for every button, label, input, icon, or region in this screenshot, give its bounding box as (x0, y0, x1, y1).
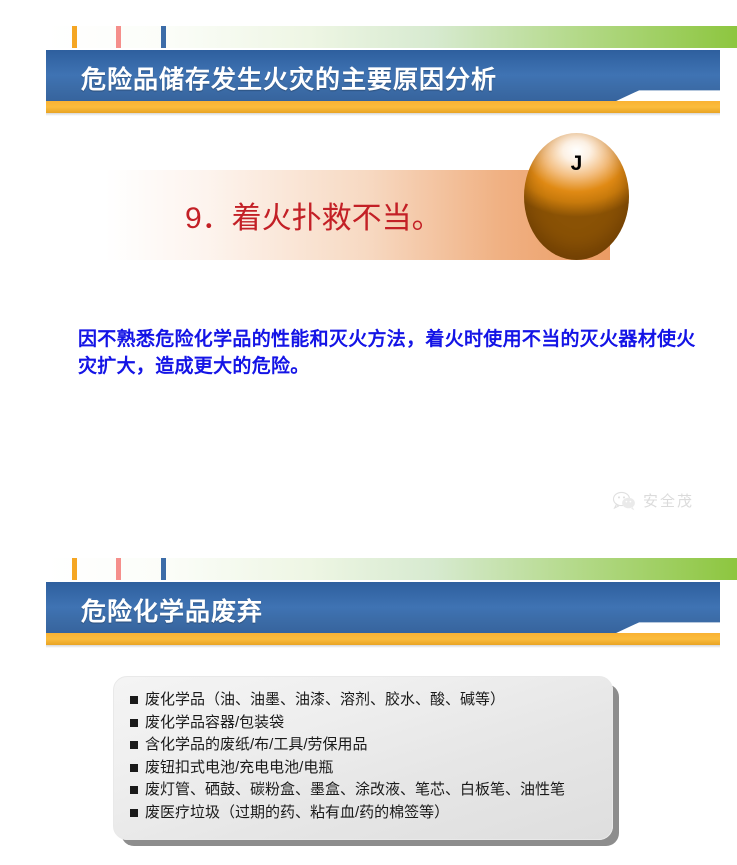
slide-title-bar: 危险品储存发生火灾的主要原因分析 (46, 50, 720, 106)
tick-mark-orange (72, 26, 77, 48)
bullet-square-icon (130, 809, 138, 817)
watermark: 安全茂 (612, 490, 694, 511)
bullet-square-icon (130, 719, 138, 727)
bullet-square-icon (130, 786, 138, 794)
title-underline-gold-bar-2 (46, 633, 720, 645)
list-item-label: 废化学品（油、油墨、油漆、溶剂、胶水、酸、碱等） (145, 689, 505, 712)
list-item-label: 含化学品的废纸/布/工具/劳保用品 (145, 734, 368, 757)
list-item: 废化学品容器/包装袋 (130, 712, 604, 735)
slide-fire-causes: 危险品储存发生火灾的主要原因分析 9．着火扑救不当。 J 因不熟悉危险化学品的性… (0, 0, 737, 520)
slide-title-bar-2: 危险化学品废弃 (46, 582, 720, 638)
bullet-square-icon (130, 741, 138, 749)
list-item-label: 废医疗垃圾（过期的药、粘有血/药的棉签等） (145, 802, 449, 825)
list-item-label: 废灯管、硒鼓、碳粉盒、墨盒、涂改液、笔芯、白板笔、油性笔 (145, 779, 565, 802)
list-item: 废医疗垃圾（过期的药、粘有血/药的棉签等） (130, 802, 604, 825)
title-underline-shadow (46, 113, 720, 116)
list-item: 废化学品（油、油墨、油漆、溶剂、胶水、酸、碱等） (130, 689, 604, 712)
list-item-label: 废化学品容器/包装袋 (145, 712, 284, 735)
list-item-label: 废钮扣式电池/充电电池/电瓶 (145, 757, 333, 780)
bullet-square-icon (130, 764, 138, 772)
decorative-gradient-strip-2 (46, 558, 737, 580)
title-underline-gold-bar (46, 101, 720, 113)
list-item: 废钮扣式电池/充电电池/电瓶 (130, 757, 604, 780)
tick-mark-orange-2 (72, 558, 77, 580)
slide-title-2: 危险化学品废弃 (81, 592, 263, 628)
slide-chemical-waste: 危险化学品废弃 废化学品（油、油墨、油漆、溶剂、胶水、酸、碱等） 废化学品容器/… (0, 548, 737, 865)
title-underline-shadow-2 (46, 645, 720, 648)
bullet-square-icon (130, 696, 138, 704)
headline-text: 9．着火扑救不当。 (185, 193, 442, 237)
tick-mark-pink (116, 26, 121, 48)
watermark-text: 安全茂 (643, 490, 694, 511)
badge-sphere: J (524, 133, 629, 260)
tick-mark-pink-2 (116, 558, 121, 580)
slide-body-text: 因不熟悉危险化学品的性能和灭火方法，着火时使用不当的灭火器材使火灾扩大，造成更大… (78, 327, 696, 381)
waste-bullet-list: 废化学品（油、油墨、油漆、溶剂、胶水、酸、碱等） 废化学品容器/包装袋 含化学品… (130, 689, 604, 824)
wechat-icon (612, 491, 638, 511)
badge-letter: J (524, 152, 629, 176)
decorative-gradient-strip (46, 26, 737, 48)
tick-mark-blue-2 (161, 558, 166, 580)
waste-list-panel: 废化学品（油、油墨、油漆、溶剂、胶水、酸、碱等） 废化学品容器/包装袋 含化学品… (113, 676, 613, 840)
slide-title: 危险品储存发生火灾的主要原因分析 (81, 60, 497, 96)
tick-mark-blue (161, 26, 166, 48)
list-item: 废灯管、硒鼓、碳粉盒、墨盒、涂改液、笔芯、白板笔、油性笔 (130, 779, 604, 802)
list-item: 含化学品的废纸/布/工具/劳保用品 (130, 734, 604, 757)
